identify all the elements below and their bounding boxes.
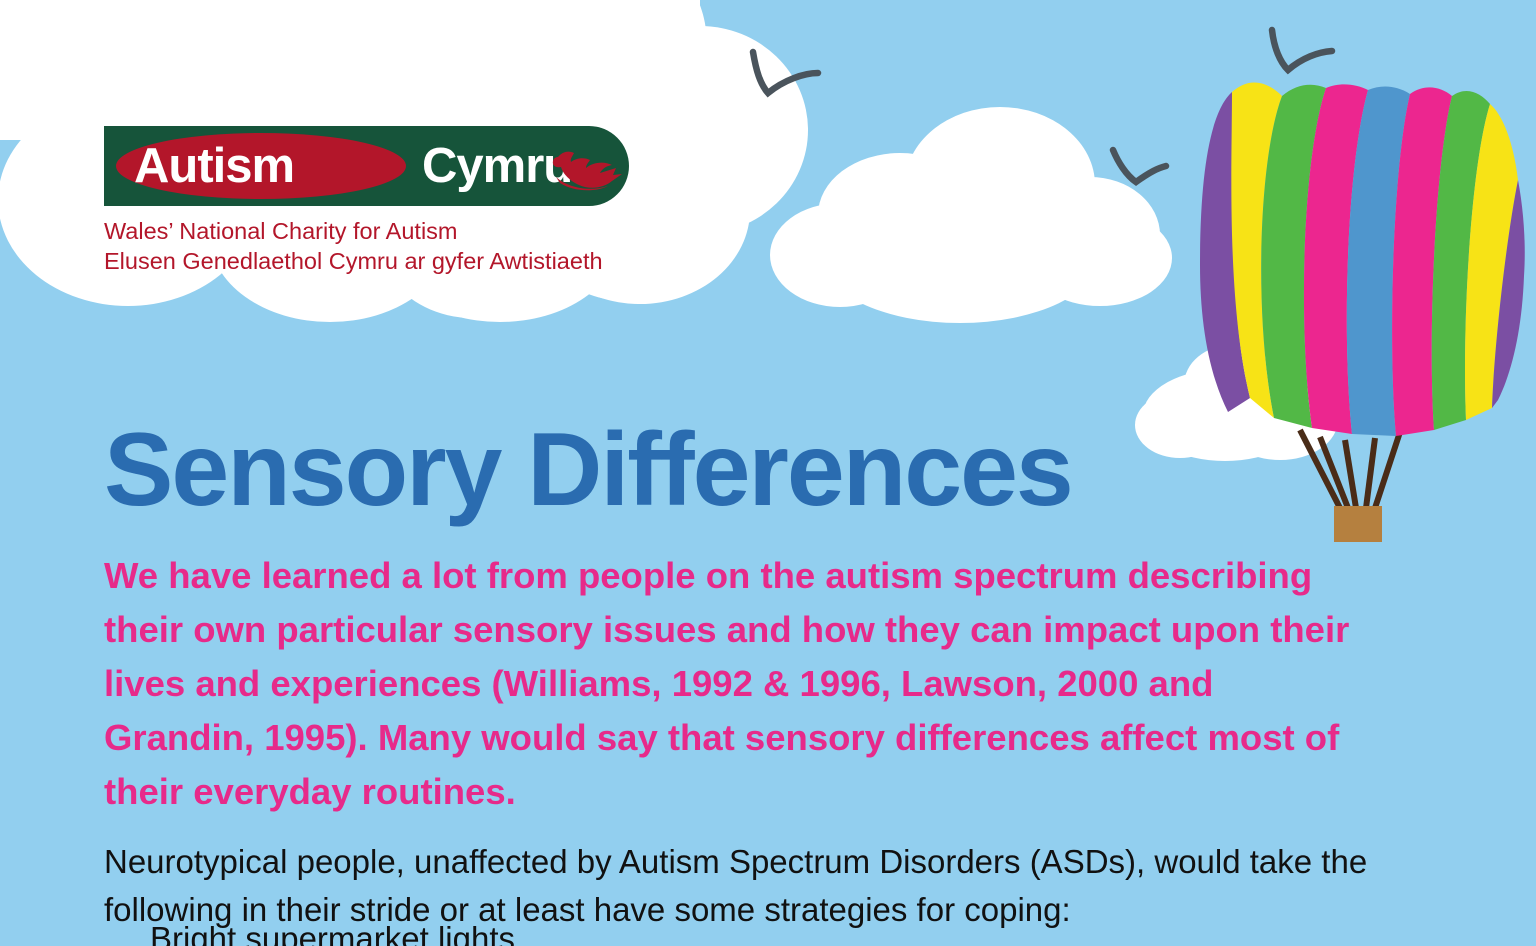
welsh-dragon-icon [552,144,624,192]
bullet-list: Bright supermarket lights [150,916,1350,946]
list-item: Bright supermarket lights [150,916,1350,946]
logo-word-cymru: Cymru [422,135,572,197]
bird-flock [753,30,1332,182]
cloud-large-icon [770,107,1172,323]
logo-tagline-english: Wales’ National Charity for Autism [104,216,704,246]
bird-icon-2 [1113,150,1166,182]
bird-icon-1 [753,52,818,93]
logo-tagline-welsh: Elusen Genedlaethol Cymru ar gyfer Awtis… [104,246,704,276]
logo-word-autism: Autism [134,135,294,197]
bird-icon-3 [1272,30,1332,70]
balloon-basket [1334,506,1382,542]
balloon-ropes [1300,430,1400,508]
hot-air-balloon-icon [1200,82,1525,542]
logo-banner: Autism Cymru [104,126,629,206]
logo-block: Autism Cymru Wales’ National Charity for… [104,126,704,276]
intro-paragraph: We have learned a lot from people on the… [104,549,1369,819]
cloud-small-icon [1135,345,1338,461]
page-title: Sensory Differences [104,410,1072,530]
poster-canvas: Autism Cymru Wales’ National Charity for… [0,0,1536,946]
